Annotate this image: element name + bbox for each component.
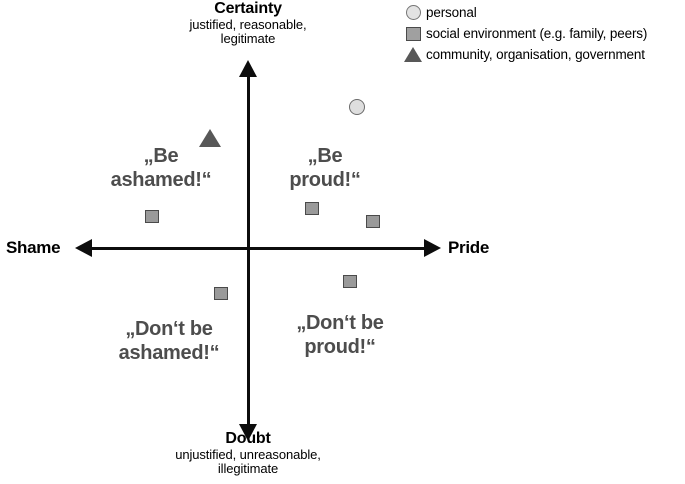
quadrant-label-dont-be-proud: „Don‘t be proud!“ [275,312,405,359]
circle-marker-icon [400,5,426,20]
quadrant-label-be-proud-line2: proud!“ [265,169,385,193]
axis-arrow-up-icon [239,60,257,77]
axis-label-certainty: Certainty justified, reasonable, legitim… [148,0,348,47]
certainty-subtitle-line1: justified, reasonable, [148,18,348,33]
horizontal-axis-line [80,247,428,250]
quadrant-label-dont-be-ashamed-line1: „Don‘t be [99,318,239,342]
diagram-canvas: Certainty justified, reasonable, legitim… [0,0,685,484]
data-point-social-upper-left [145,210,159,223]
quadrant-label-be-ashamed-line2: ashamed!“ [96,169,226,193]
axis-arrow-down-icon [239,424,257,441]
legend-label-personal: personal [426,5,477,20]
data-point-social-lower-left [214,287,228,300]
doubt-subtitle-line1: unjustified, unreasonable, [148,448,348,463]
data-point-personal-upper-right [349,99,365,115]
legend-label-community: community, organisation, government [426,47,645,62]
legend-item-personal: personal [400,2,685,23]
square-marker-icon [400,27,426,41]
doubt-subtitle-line2: illegitimate [148,462,348,477]
legend-item-social-environment: social environment (e.g. family, peers) [400,23,685,44]
quadrant-label-be-ashamed: „Be ashamed!“ [96,145,226,192]
quadrant-label-be-proud-line1: „Be [265,145,385,169]
triangle-marker-icon [400,47,426,62]
axis-label-shame: Shame [6,238,60,258]
quadrant-label-dont-be-ashamed-line2: ashamed!“ [99,342,239,366]
quadrant-label-dont-be-ashamed: „Don‘t be ashamed!“ [99,318,239,365]
certainty-title: Certainty [148,0,348,18]
axis-label-pride: Pride [448,238,489,258]
quadrant-label-be-proud: „Be proud!“ [265,145,385,192]
data-point-community-upper-left [199,129,221,147]
axis-arrow-right-icon [424,239,441,257]
data-point-social-upper-right-b [366,215,380,228]
quadrant-label-be-ashamed-line1: „Be [96,145,226,169]
data-point-social-lower-right [343,275,357,288]
quadrant-label-dont-be-proud-line2: proud!“ [275,336,405,360]
certainty-subtitle-line2: legitimate [148,32,348,47]
legend-label-social-environment: social environment (e.g. family, peers) [426,26,647,41]
data-point-social-upper-right-a [305,202,319,215]
axis-arrow-left-icon [75,239,92,257]
quadrant-label-dont-be-proud-line1: „Don‘t be [275,312,405,336]
legend-item-community: community, organisation, government [400,44,685,65]
legend: personal social environment (e.g. family… [400,2,685,65]
